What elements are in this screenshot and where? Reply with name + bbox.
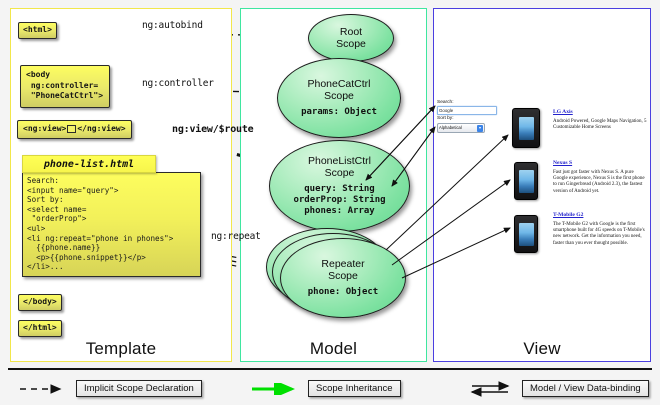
double-arrow-icon — [470, 381, 516, 397]
search-input[interactable]: Google — [437, 106, 497, 115]
ngview-placeholder-icon — [67, 125, 76, 133]
tag-ngview-open: <ng:view> — [23, 124, 66, 133]
panel-template-label: Template — [11, 339, 231, 359]
scope-root: Root Scope — [308, 14, 394, 62]
tag-html-close: </html> — [18, 320, 62, 337]
sort-select-value: Alphabetical — [439, 125, 462, 131]
tag-ngview: <ng:view></ng:view> — [17, 120, 132, 139]
phone-screen-icon — [519, 117, 534, 140]
scope-phonelistctrl-title: PhoneListCtrl Scope — [308, 155, 371, 179]
note-title: phone-list.html — [22, 155, 156, 173]
phone-name-link[interactable]: Nexus S — [553, 160, 649, 167]
sort-select[interactable]: Alphabetical ▾ — [437, 123, 485, 133]
scope-phonecatctrl-props: params: Object — [301, 107, 377, 118]
sort-label: Sort by: — [437, 116, 499, 122]
scope-phonecatctrl: PhoneCatCtrl Scope params: Object — [277, 58, 401, 138]
scope-phonecatctrl-title: PhoneCatCtrl Scope — [307, 78, 370, 102]
phone-thumbnail — [514, 215, 538, 253]
phone-list-item: T-Mobile G2 The T-Mobile G2 with Google … — [553, 212, 649, 247]
scope-repeater: Repeater Scope phone: Object — [280, 238, 406, 318]
note-code: Search: <input name="query"> Sort by: <s… — [22, 172, 201, 277]
scope-root-title: Root Scope — [336, 26, 366, 50]
scope-phonelistctrl: PhoneListCtrl Scope query: String orderP… — [269, 140, 410, 232]
dashed-arrow-icon — [18, 383, 70, 395]
legend-label-inheritance: Scope Inheritance — [308, 380, 401, 397]
phone-screen-icon — [519, 170, 534, 193]
tag-ngview-close: </ng:view> — [77, 124, 125, 133]
legend-label-databinding: Model / View Data-binding — [522, 380, 649, 397]
phone-snippet: Fast just got faster with Nexus S. A pur… — [553, 170, 649, 196]
phone-list-item: LG Axis Android Powered, Google Maps Nav… — [553, 109, 649, 131]
chevron-down-icon: ▾ — [477, 125, 483, 132]
solid-arrow-icon — [250, 383, 302, 395]
phone-thumbnail — [512, 108, 540, 148]
phone-thumbnail — [514, 162, 538, 200]
view-search-form: Search: Google Sort by: Alphabetical ▾ — [437, 100, 499, 133]
edge-label-repeat: ng:repeat — [211, 231, 261, 242]
legend-label-implicit: Implicit Scope Declaration — [76, 380, 202, 397]
tag-body-open: <body ng:controller= "PhoneCatCtrl"> — [20, 65, 110, 108]
legend-divider — [8, 368, 652, 370]
edge-label-controller: ng:controller — [142, 78, 214, 89]
template-note: phone-list.html Search: <input name="que… — [22, 155, 195, 277]
phone-list-item: Nexus S Fast just got faster with Nexus … — [553, 160, 649, 195]
scope-repeater-title: Repeater Scope — [321, 258, 364, 282]
scope-repeater-props: phone: Object — [308, 287, 378, 298]
scope-phonelistctrl-props: query: String orderProp: String phones: … — [293, 184, 385, 217]
legend-item-implicit: Implicit Scope Declaration — [18, 380, 202, 397]
phone-screen-icon — [519, 223, 534, 246]
phone-name-link[interactable]: LG Axis — [553, 109, 649, 116]
phone-snippet: Android Powered, Google Maps Navigation,… — [553, 119, 649, 132]
edge-label-autobind: ng:autobind — [142, 20, 203, 31]
phone-snippet: The T-Mobile G2 with Google is the first… — [553, 222, 649, 248]
tag-body-close: </body> — [18, 294, 62, 311]
phone-name-link[interactable]: T-Mobile G2 — [553, 212, 649, 219]
panel-model-label: Model — [241, 339, 426, 359]
legend-item-inheritance: Scope Inheritance — [250, 380, 401, 397]
diagram-canvas: Template Model View <html> <body ng:cont… — [0, 0, 660, 405]
tag-html-open: <html> — [18, 22, 57, 39]
legend-item-databinding: Model / View Data-binding — [470, 380, 649, 397]
edge-label-route: ng:view/$route — [172, 124, 254, 135]
panel-view-label: View — [434, 339, 650, 359]
